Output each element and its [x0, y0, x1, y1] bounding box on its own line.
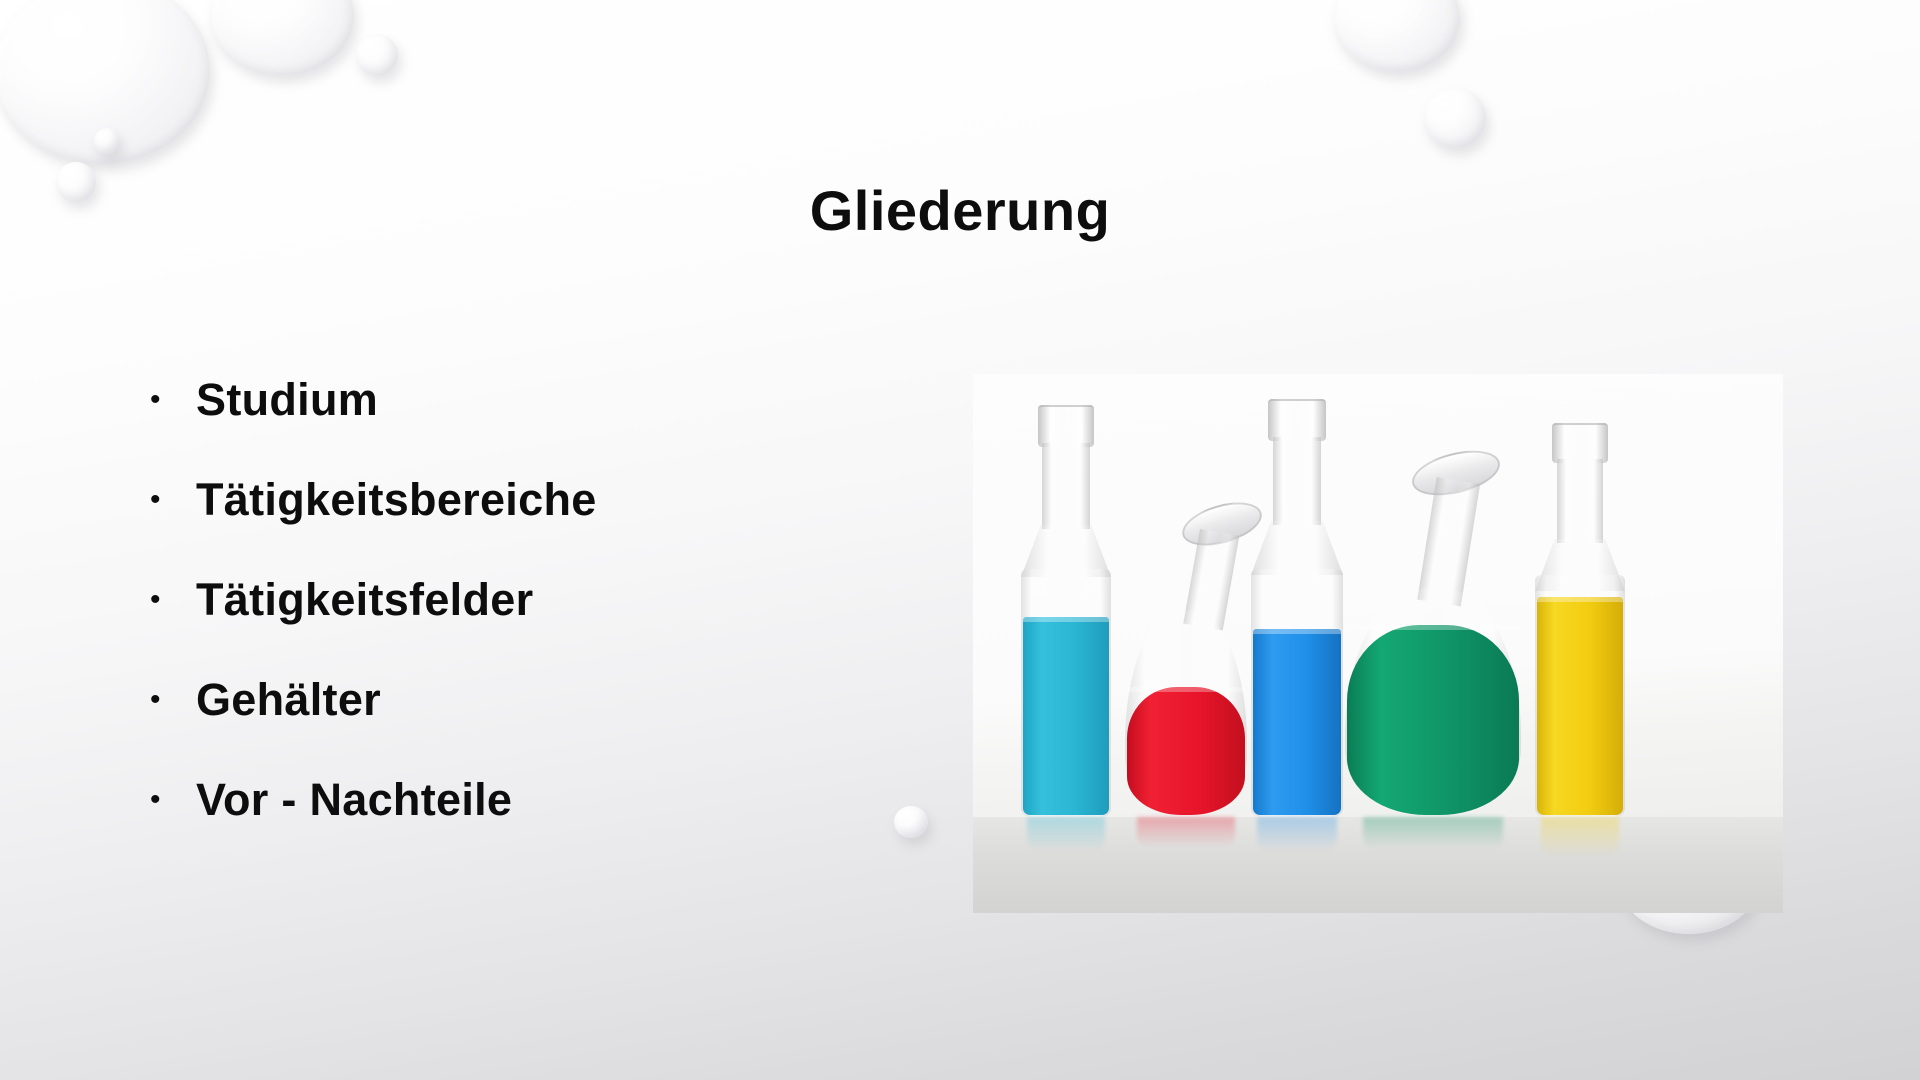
bullet-point-icon: • [150, 785, 196, 815]
bullet-label: Tätigkeitsfelder [196, 574, 533, 626]
bottle-cyan [1021, 405, 1111, 817]
bullet-label: Studium [196, 374, 378, 426]
droplet-topright-medium [1424, 88, 1486, 148]
droplet-large-topleft [0, 0, 210, 164]
flask-red-liquid [1127, 687, 1245, 815]
bullet-label: Gehälter [196, 674, 381, 726]
list-item: • Studium [150, 350, 870, 450]
bottle-yellow-neck [1557, 459, 1603, 543]
bullet-point-icon: • [150, 485, 196, 515]
bullet-point-icon: • [150, 585, 196, 615]
bullet-label: Vor - Nachteile [196, 774, 512, 826]
bottle-blue-liquid [1253, 629, 1341, 815]
list-item: • Gehälter [150, 650, 870, 750]
bottle-yellow-reflection [1541, 817, 1619, 857]
flask-green-liquid [1347, 625, 1519, 815]
list-item: • Tätigkeitsfelder [150, 550, 870, 650]
bottle-cyan-neck [1042, 443, 1090, 529]
bullet-point-icon: • [150, 385, 196, 415]
bottles-photo [973, 374, 1783, 913]
bottle-yellow-liquid [1537, 597, 1623, 815]
bottle-yellow-lip [1552, 423, 1608, 463]
flask-red-reflection [1137, 817, 1235, 847]
droplet-medium-topleft [210, 0, 354, 76]
bottle-blue-reflection [1257, 817, 1337, 851]
page-title: Gliederung [0, 178, 1920, 243]
droplet-small-topright-of-cluster [356, 34, 398, 76]
bottle-yellow [1535, 423, 1625, 817]
bullet-point-icon: • [150, 685, 196, 715]
flask-green-reflection [1363, 817, 1503, 849]
presentation-slide: Gliederung • Studium • Tätigkeitsbereich… [0, 0, 1920, 1080]
bottle-blue-shoulder [1251, 521, 1343, 575]
bottle-blue-lip [1268, 399, 1326, 441]
list-item: • Vor - Nachteile [150, 750, 870, 850]
bottle-blue-neck [1273, 437, 1321, 525]
droplet-tiny-center-left [94, 128, 120, 154]
bottle-cyan-lip [1038, 405, 1094, 447]
flask-red [1125, 507, 1247, 817]
bullet-label: Tätigkeitsbereiche [196, 474, 597, 526]
bottle-cyan-reflection [1027, 817, 1105, 851]
list-item: • Tätigkeitsbereiche [150, 450, 870, 550]
flask-green [1345, 457, 1521, 817]
bottle-blue [1251, 399, 1343, 817]
flask-green-neck [1417, 477, 1480, 606]
outline-bullet-list: • Studium • Tätigkeitsbereiche • Tätigke… [150, 350, 870, 850]
droplet-bottom-center-small [894, 806, 928, 838]
bottle-cyan-liquid [1023, 617, 1109, 815]
droplet-topright-large [1334, 0, 1460, 72]
